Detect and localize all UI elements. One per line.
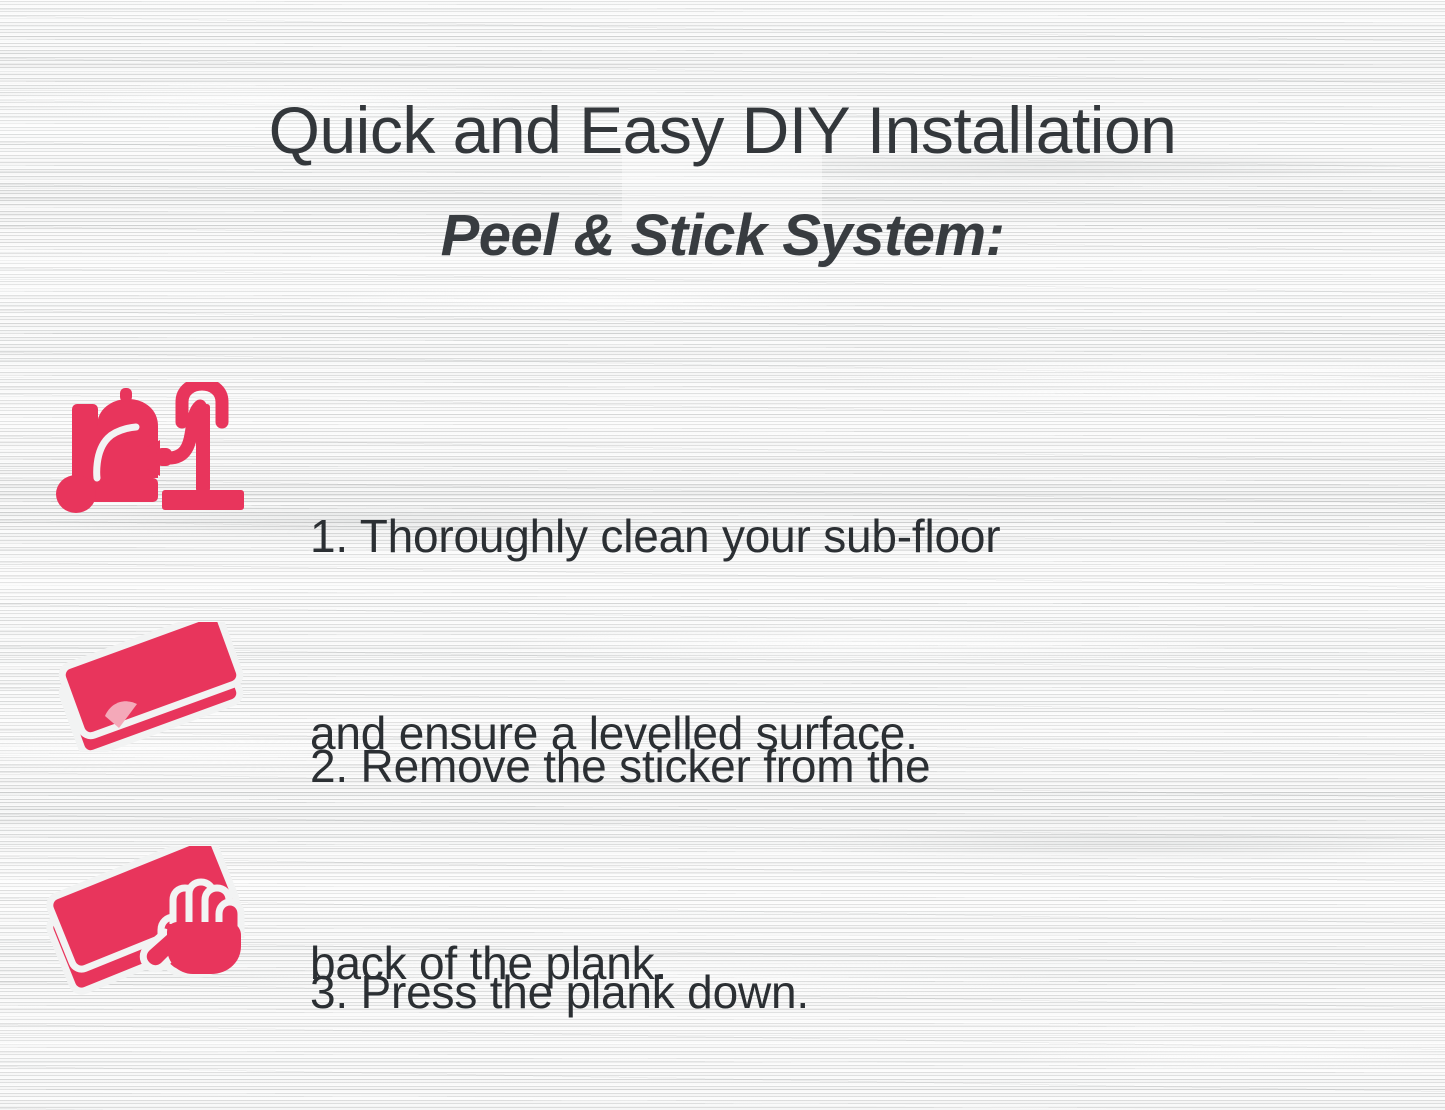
vacuum-cleaner-icon	[50, 382, 250, 522]
step-1-line-1: 1. Thoroughly clean your sub-floor	[310, 504, 1445, 570]
plank-peel-sticker-icon	[45, 622, 255, 752]
steps-list: 1. Thoroughly clean your sub-floor and e…	[0, 372, 1445, 1056]
list-item: 1. Thoroughly clean your sub-floor and e…	[0, 372, 1445, 600]
step-2-icon-wrapper	[0, 600, 300, 752]
list-item: 3. Press the plank down. Ensure the plan…	[0, 828, 1445, 1056]
list-item: 2. Remove the sticker from the back of t…	[0, 600, 1445, 828]
step-1-icon-wrapper	[0, 372, 300, 522]
installation-instructions-graphic: Quick and Easy DIY Installation Peel & S…	[0, 0, 1445, 1110]
hand-pressing-plank-icon	[35, 846, 265, 1006]
step-3-text: 3. Press the plank down. Ensure the plan…	[300, 828, 1445, 1110]
page-subtitle: Peel & Stick System:	[0, 202, 1445, 269]
step-3-line-1: 3. Press the plank down.	[310, 960, 1445, 1026]
step-3-icon-wrapper	[0, 828, 300, 1006]
page-title: Quick and Easy DIY Installation	[0, 92, 1445, 168]
step-2-line-1: 2. Remove the sticker from the	[310, 734, 1445, 800]
